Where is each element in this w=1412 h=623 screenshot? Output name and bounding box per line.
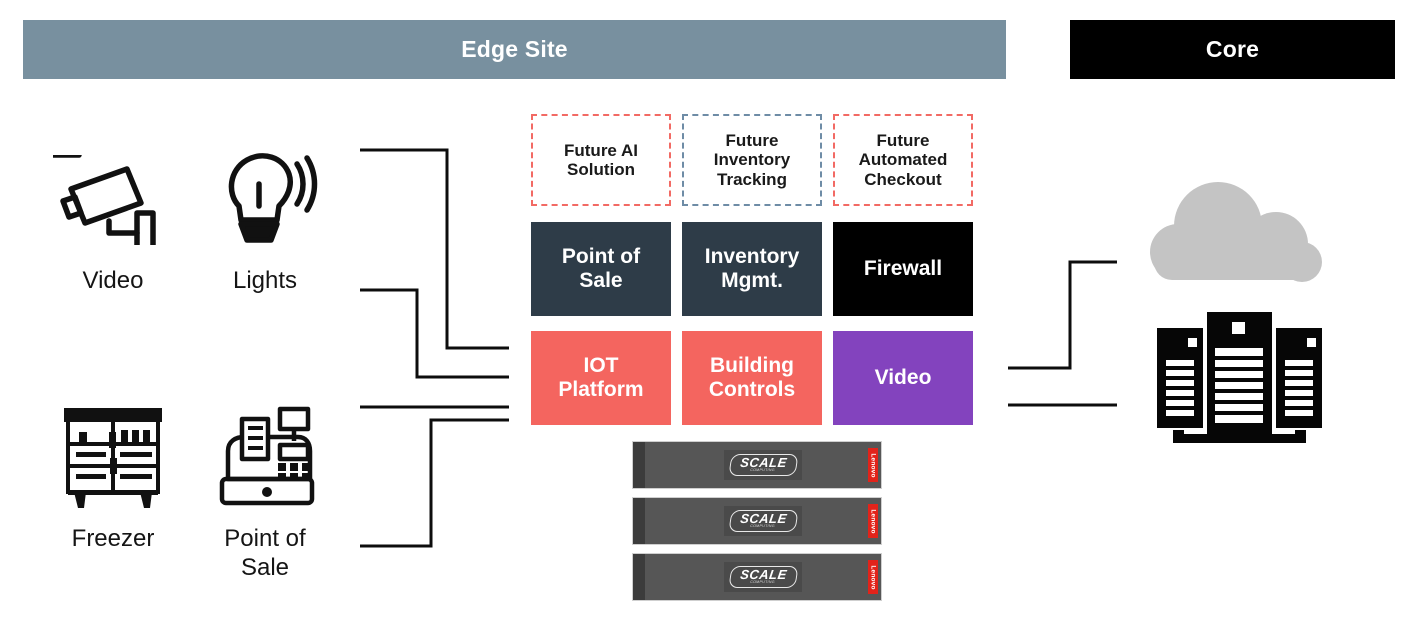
edge-site-banner-label: Edge Site (461, 36, 568, 63)
workload-building-controls[interactable]: Building Controls (682, 331, 822, 425)
device-video: Video (38, 140, 188, 295)
workload-video[interactable]: Video (833, 331, 973, 425)
rack-logo-plate: SCALE COMPUTING (724, 450, 803, 480)
rack-vendor-3: Lenovo (870, 565, 877, 589)
device-point-of-sale: Point of Sale (190, 398, 340, 583)
rack-bezel (633, 498, 645, 544)
workload-video-label: Video (875, 366, 932, 390)
device-video-label: Video (38, 266, 188, 295)
rack-vendor-2: Lenovo (870, 509, 877, 533)
workload-iot-line1: IOT (584, 354, 619, 377)
device-point-of-sale-label: Point of Sale (190, 524, 340, 583)
pos-label-line1: Point of (224, 525, 305, 552)
workload-firewall-label: Firewall (864, 257, 942, 281)
future-chk-line2: Automated (859, 150, 948, 169)
cloud-icon (1142, 182, 1342, 297)
freezer-display-case-icon (38, 398, 188, 518)
future-inv-line2: Inventory (714, 150, 791, 169)
vendor-tab: Lenovo (868, 560, 878, 594)
workload-point-of-sale[interactable]: Point of Sale (531, 222, 671, 316)
rack-face: SCALE COMPUTING Lenovo (645, 498, 881, 544)
rack-unit[interactable]: SCALE COMPUTING Lenovo (632, 553, 882, 601)
rack-unit[interactable]: SCALE COMPUTING Lenovo (632, 497, 882, 545)
cash-register-icon (190, 398, 340, 518)
workload-future-automated-checkout[interactable]: Future Automated Checkout (833, 114, 973, 206)
scale-computing-logo-icon: SCALE COMPUTING (728, 454, 798, 476)
scale-computing-logo-icon: SCALE COMPUTING (728, 510, 798, 532)
server-rack-group-icon (1157, 312, 1322, 452)
rack-face: SCALE COMPUTING Lenovo (645, 554, 881, 600)
device-freezer-label: Freezer (38, 524, 188, 553)
core-banner: Core (1070, 20, 1395, 79)
workload-bldg-line2: Controls (709, 378, 795, 401)
edge-to-core-architecture-diagram: Edge Site Core Video (0, 0, 1412, 623)
workload-firewall[interactable]: Firewall (833, 222, 973, 316)
security-camera-icon (38, 140, 188, 260)
future-inv-line1: Future (726, 131, 779, 150)
rack-bezel (633, 442, 645, 488)
workload-inv-line2: Mgmt. (721, 269, 783, 292)
workload-future-inventory-tracking[interactable]: Future Inventory Tracking (682, 114, 822, 206)
future-chk-line1: Future (877, 131, 930, 150)
core-banner-label: Core (1206, 36, 1259, 63)
workload-iot-platform[interactable]: IOT Platform (531, 331, 671, 425)
workload-future-ai-solution[interactable]: Future AI Solution (531, 114, 671, 206)
workload-pos-line1: Point of (562, 245, 640, 268)
rack-bezel (633, 554, 645, 600)
device-freezer: Freezer (38, 398, 188, 553)
pos-label-line2: Sale (241, 554, 289, 581)
future-ai-line2: Solution (567, 160, 635, 179)
smart-lightbulb-icon (190, 140, 340, 260)
future-ai-line1: Future AI (564, 141, 638, 160)
rack-face: SCALE COMPUTING Lenovo (645, 442, 881, 488)
workload-bldg-line1: Building (710, 354, 794, 377)
future-chk-line3: Checkout (864, 170, 941, 189)
workload-inv-line1: Inventory (705, 245, 800, 268)
rack-unit[interactable]: SCALE COMPUTING Lenovo (632, 441, 882, 489)
rack-logo-plate: SCALE COMPUTING (724, 506, 803, 536)
workload-pos-line2: Sale (579, 269, 622, 292)
workload-inventory-mgmt[interactable]: Inventory Mgmt. (682, 222, 822, 316)
scale-computing-logo-icon: SCALE COMPUTING (728, 566, 798, 588)
edge-site-banner: Edge Site (23, 20, 1006, 79)
workload-iot-line2: Platform (558, 378, 643, 401)
vendor-tab: Lenovo (868, 504, 878, 538)
device-lights: Lights (190, 140, 340, 295)
device-lights-label: Lights (190, 266, 340, 295)
rack-vendor-1: Lenovo (870, 453, 877, 477)
vendor-tab: Lenovo (868, 448, 878, 482)
future-inv-line3: Tracking (717, 170, 787, 189)
rack-logo-plate: SCALE COMPUTING (724, 562, 803, 592)
